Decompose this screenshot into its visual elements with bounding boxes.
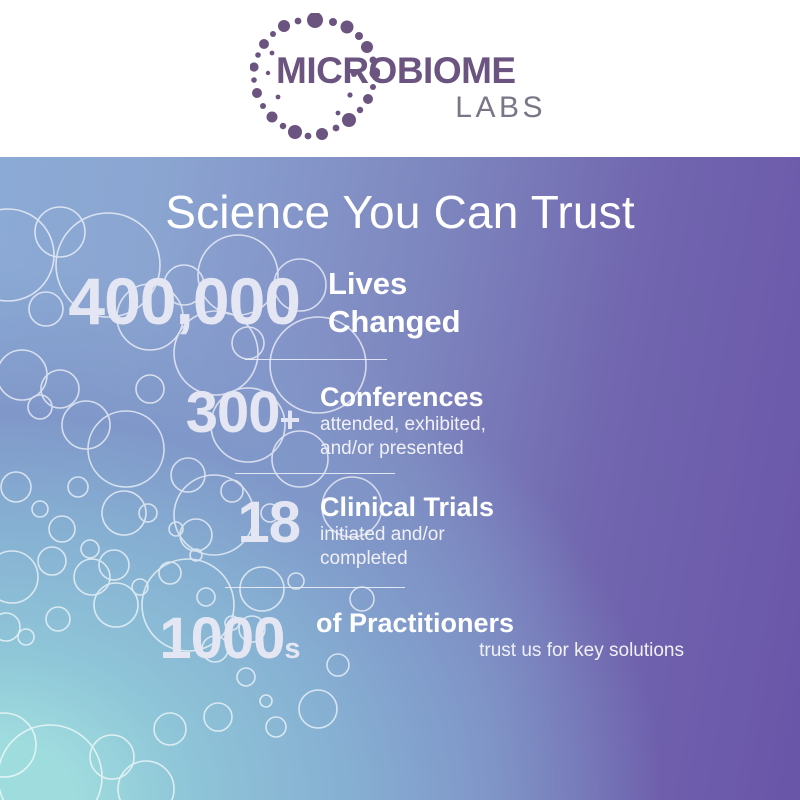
stat-label-lives-line2: Changed xyxy=(328,303,708,341)
stat-desc-clinical-trials-line1: initiated and/or xyxy=(320,523,700,547)
stat-label-clinical-trials: Clinical Trials xyxy=(320,492,700,523)
stat-figure-clinical-trials: 18 xyxy=(0,492,300,553)
stat-body-practitioners: of Practitioners trust us for key soluti… xyxy=(300,608,706,663)
stat-figure-practitioners: 1000s xyxy=(0,608,300,679)
stat-desc-practitioners: trust us for key solutions xyxy=(316,639,706,663)
stat-row-lives-changed: 400,000 Lives Changed xyxy=(0,265,800,341)
stat-suffix-practitioners: s xyxy=(284,633,300,665)
stat-desc-conferences-line1: attended, exhibited, xyxy=(320,413,700,437)
stat-desc-conferences-line2: and/or presented xyxy=(320,437,700,461)
stat-label-conferences: Conferences xyxy=(320,382,700,413)
stat-body-conferences: Conferences attended, exhibited, and/or … xyxy=(300,382,700,461)
stat-label-practitioners: of Practitioners xyxy=(316,608,706,639)
stat-number-practitioners: 1000 xyxy=(159,606,284,671)
stat-figure-conferences: 300+ xyxy=(0,382,300,450)
stat-body-lives: Lives Changed xyxy=(300,265,708,341)
stat-label-lives-line1: Lives xyxy=(328,265,708,303)
stat-divider-2 xyxy=(235,473,395,474)
stats-list: 400,000 Lives Changed 300+ Conferences a… xyxy=(0,265,800,679)
stat-number-lives: 400,000 xyxy=(68,264,300,338)
brand-wordmark: MICROBIOME LABS xyxy=(276,51,550,133)
logo-header-band: MICROBIOME LABS xyxy=(0,0,800,157)
stat-row-conferences: 300+ Conferences attended, exhibited, an… xyxy=(0,382,800,461)
stat-divider-3 xyxy=(225,587,405,588)
stat-suffix-conferences: + xyxy=(279,399,300,440)
gradient-panel: Science You Can Trust 400,000 Lives Chan… xyxy=(0,157,800,800)
page-title: Science You Can Trust xyxy=(0,185,800,239)
stat-row-practitioners: 1000s of Practitioners trust us for key … xyxy=(0,608,800,679)
stat-number-conferences: 300 xyxy=(186,380,280,445)
stat-number-clinical-trials: 18 xyxy=(237,490,300,555)
stat-figure-lives: 400,000 xyxy=(0,265,300,335)
infographic-poster: MICROBIOME LABS xyxy=(0,0,800,800)
stat-desc-clinical-trials-line2: completed xyxy=(320,547,700,571)
brand-logo-lockup: MICROBIOME LABS xyxy=(250,13,550,145)
stat-body-clinical-trials: Clinical Trials initiated and/or complet… xyxy=(300,492,700,571)
brand-name: MICROBIOME xyxy=(276,51,550,91)
brand-sub: LABS xyxy=(276,91,550,125)
stat-divider-1 xyxy=(245,359,387,360)
stat-row-clinical-trials: 18 Clinical Trials initiated and/or comp… xyxy=(0,492,800,571)
